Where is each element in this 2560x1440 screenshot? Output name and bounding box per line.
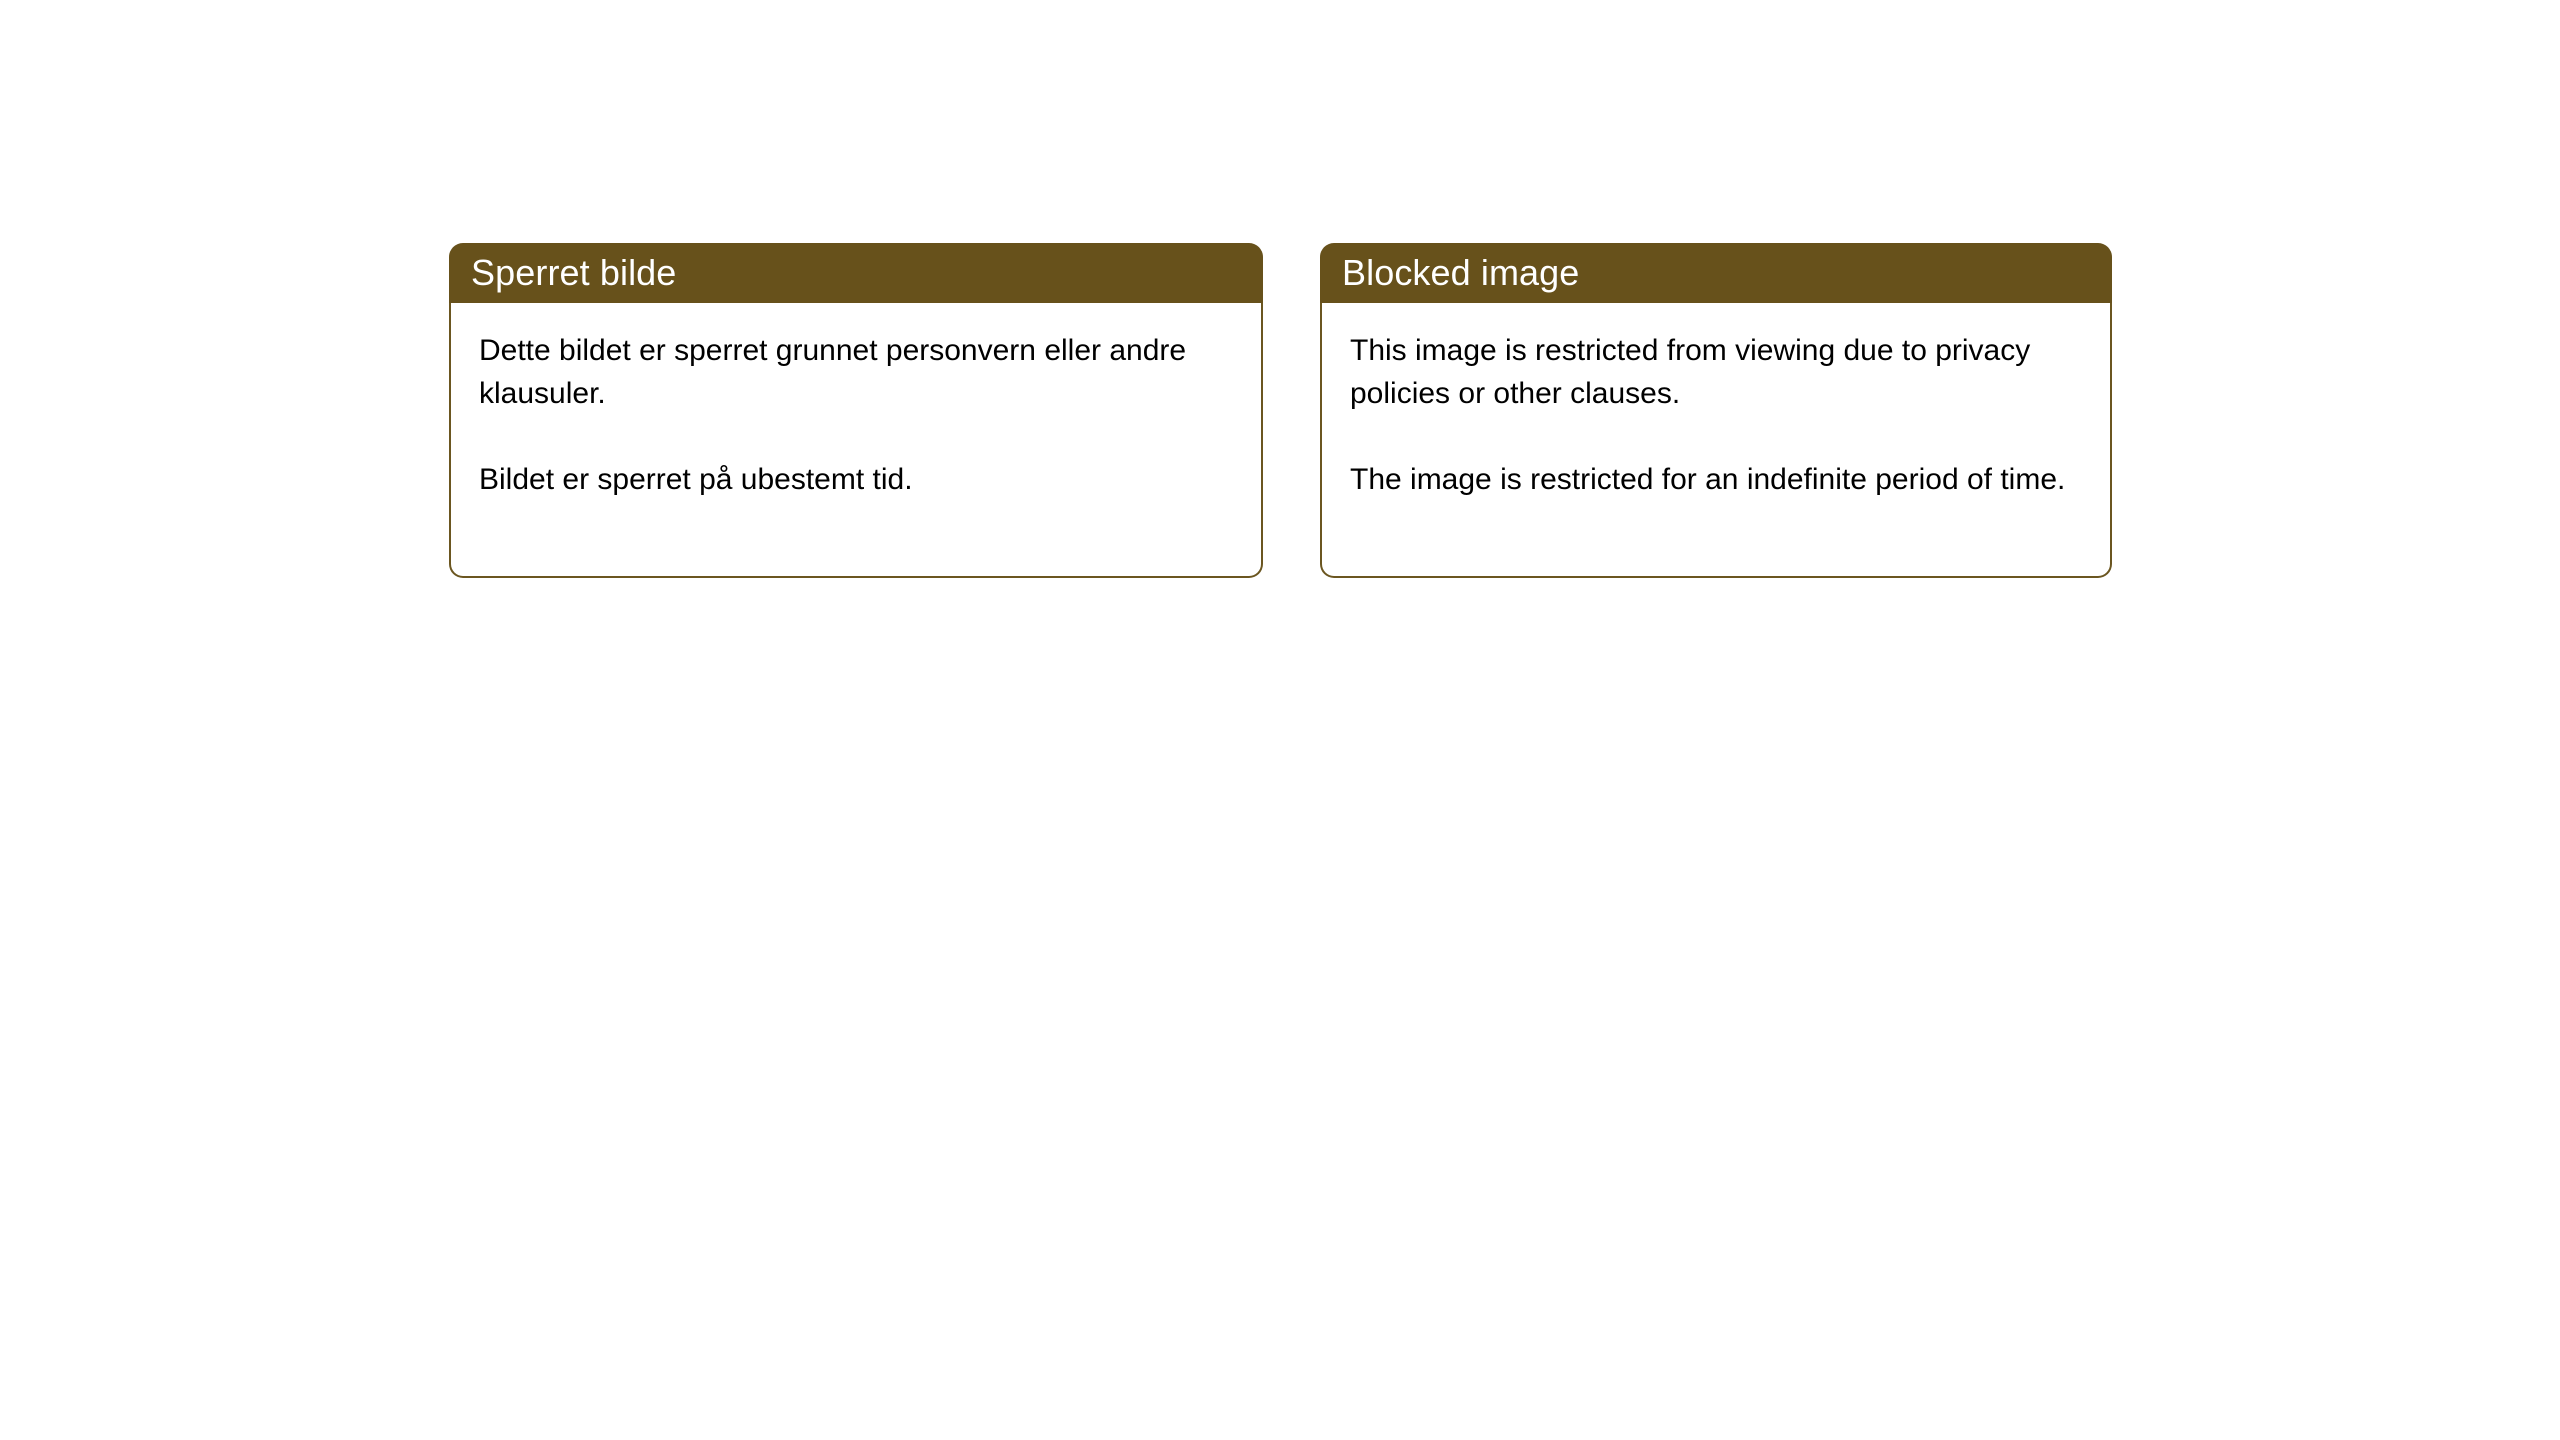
card-body-english: This image is restricted from viewing du…	[1320, 303, 2112, 578]
card-title-english: Blocked image	[1342, 255, 1579, 291]
card-body-norwegian: Dette bildet er sperret grunnet personve…	[449, 303, 1263, 578]
card-paragraph: This image is restricted from viewing du…	[1350, 329, 2090, 415]
card-title-norwegian: Sperret bilde	[471, 255, 676, 291]
card-header-english: Blocked image	[1320, 243, 2112, 303]
card-paragraph: Dette bildet er sperret grunnet personve…	[479, 329, 1241, 415]
blocked-image-notice-group: Sperret bilde Dette bildet er sperret gr…	[449, 243, 2112, 578]
card-paragraph: Bildet er sperret på ubestemt tid.	[479, 458, 1241, 501]
blocked-image-card-norwegian: Sperret bilde Dette bildet er sperret gr…	[449, 243, 1263, 578]
blocked-image-card-english: Blocked image This image is restricted f…	[1320, 243, 2112, 578]
card-paragraph: The image is restricted for an indefinit…	[1350, 458, 2090, 501]
card-header-norwegian: Sperret bilde	[449, 243, 1263, 303]
